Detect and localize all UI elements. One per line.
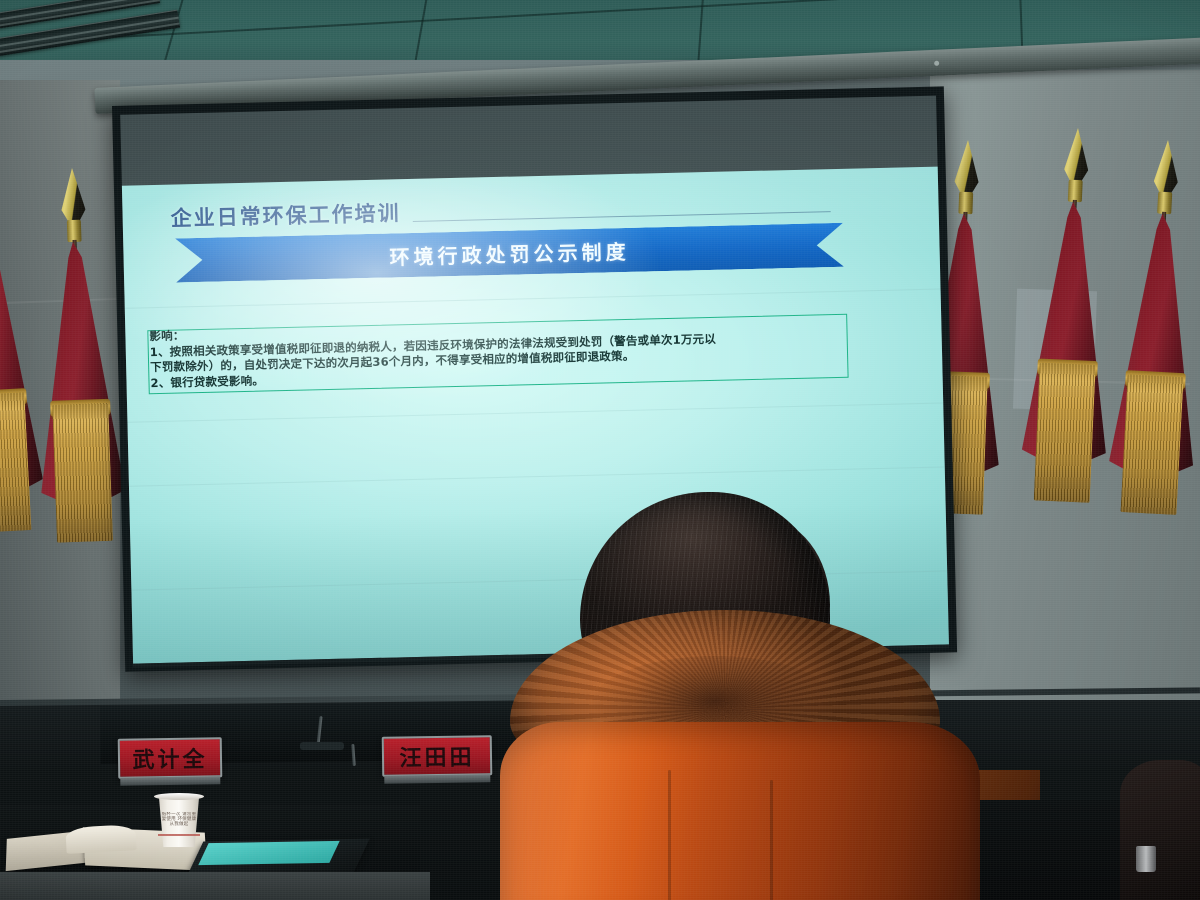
- nameplate: 武计全: [118, 737, 223, 778]
- paper-cup-band: [158, 834, 200, 836]
- jacket-shading: [500, 722, 980, 900]
- nameplate-text: 武计全: [132, 741, 207, 774]
- flag-tassel: [52, 403, 113, 543]
- photo-scene: 企业日常环保工作培训 环境行政处罚公示制度 影响： 1、按照相关政策享受增值税即…: [0, 0, 1200, 900]
- slide-banner-title: 环境行政处罚公示制度: [389, 235, 630, 270]
- tablet-screen: [198, 841, 339, 865]
- flag-ferrule: [67, 220, 82, 242]
- paper-cup-rim: [154, 793, 204, 800]
- floor: [0, 872, 430, 900]
- slide-banner: 环境行政处罚公示制度: [175, 223, 844, 283]
- nameplate-text: 汪田田: [399, 739, 474, 772]
- slide-kicker-title: 企业日常环保工作培训: [170, 197, 401, 232]
- nameplate-stand: [120, 776, 220, 785]
- right-person-silhouette: [1120, 760, 1200, 900]
- drinking-glass: [1136, 846, 1156, 872]
- flag-ferrule: [958, 192, 973, 214]
- roller-screw: [934, 61, 939, 66]
- microphone-base: [300, 742, 344, 750]
- notebook-page-curl: [65, 824, 136, 854]
- kicker-underline: [413, 211, 831, 222]
- paper-cup-text: 纸杯一次 请勿重复使用 环保健康从我做起: [160, 812, 198, 828]
- flag-ferrule: [1068, 180, 1083, 203]
- flag-ferrule: [1157, 192, 1172, 215]
